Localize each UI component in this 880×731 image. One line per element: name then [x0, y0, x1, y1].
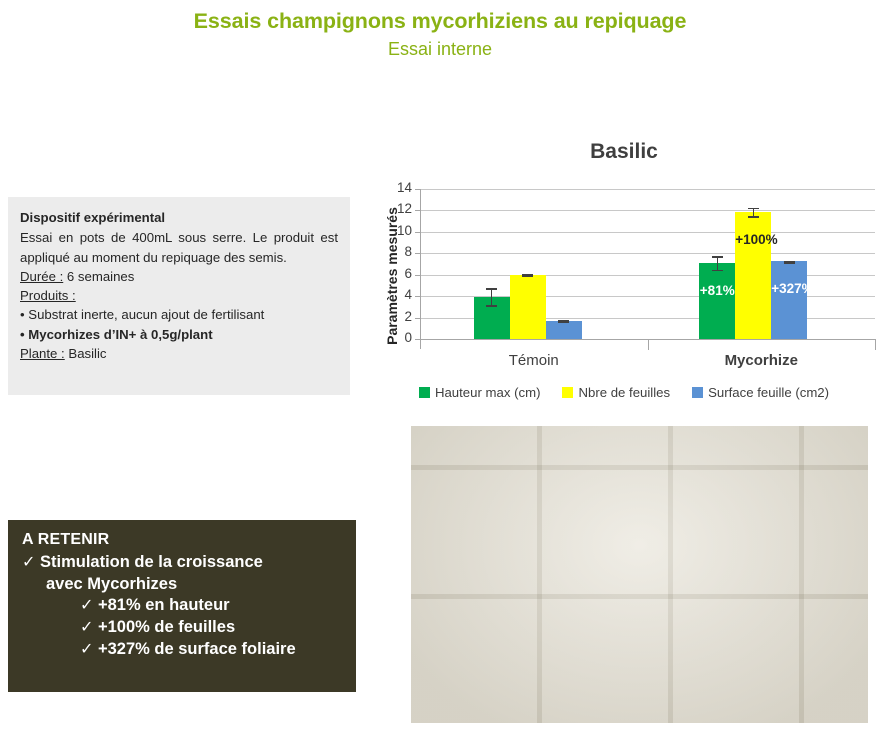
- chart-y-tick-label: 6: [378, 266, 412, 281]
- page-title: Essais champignons mycorhiziens au repiq…: [0, 8, 880, 35]
- chart-error-bar: [491, 288, 492, 305]
- retenir-bullet-2: ✓ +100% de feuilles: [22, 617, 342, 639]
- chart-legend: Hauteur max (cm)Nbre de feuillesSurface …: [372, 385, 876, 400]
- protocol-products-label: Produits :: [20, 288, 76, 303]
- chart-category-divider: [875, 339, 876, 350]
- chart-y-tick-label: 10: [378, 223, 412, 238]
- chart-gridline: [420, 232, 875, 233]
- retenir-line-1b: avec Mycorhizes: [22, 574, 342, 595]
- chart-bar-data-label: +327%: [771, 281, 807, 296]
- chart-gridline: [420, 189, 875, 190]
- chart-bar: [546, 321, 582, 339]
- chart-legend-label: Nbre de feuilles: [578, 385, 670, 400]
- chart-x-category-label: Témoin: [420, 352, 648, 369]
- chart-legend-item: Surface feuille (cm2): [692, 385, 829, 400]
- photo-tile-floor: [411, 426, 868, 723]
- protocol-plant-label: Plante :: [20, 346, 65, 361]
- key-takeaway-box: A RETENIR ✓ Stimulation de la croissance…: [8, 520, 356, 692]
- check-icon: ✓: [80, 619, 93, 636]
- check-icon: ✓: [22, 554, 35, 571]
- protocol-duration-value: 6 semaines: [67, 269, 134, 284]
- bar-chart: Basilic Paramètres mesurés 02468101214Té…: [372, 140, 876, 415]
- protocol-product-2: • Mycorhizes d’IN+ à 0,5g/plant: [20, 325, 338, 344]
- chart-legend-item: Hauteur max (cm): [419, 385, 541, 400]
- retenir-bullet-3-text: +327% de surface foliaire: [98, 640, 296, 658]
- chart-bar: [699, 263, 735, 339]
- chart-legend-label: Hauteur max (cm): [435, 385, 541, 400]
- retenir-bullet-1: ✓ +81% en hauteur: [22, 595, 342, 617]
- chart-legend-label: Surface feuille (cm2): [708, 385, 829, 400]
- chart-bar: [771, 261, 807, 339]
- chart-error-bar: [717, 256, 718, 270]
- chart-plot-area: 02468101214Témoin+81%+100%+327%Mycorhize: [420, 189, 875, 339]
- chart-legend-swatch: [692, 387, 703, 398]
- slide-root: Essais champignons mycorhiziens au repiq…: [0, 0, 880, 731]
- chart-bar: [510, 275, 546, 339]
- chart-bar-data-label: +81%: [699, 283, 735, 298]
- retenir-bullet-2-text: +100% de feuilles: [98, 618, 235, 636]
- chart-error-cap: [712, 256, 723, 258]
- retenir-heading: A RETENIR: [22, 530, 342, 551]
- chart-y-tick-label: 12: [378, 201, 412, 216]
- protocol-product-1: • Substrat inerte, aucun ajout de fertil…: [20, 305, 338, 324]
- chart-y-tick-label: 2: [378, 309, 412, 324]
- chart-y-axis: [420, 189, 421, 349]
- chart-category-divider: [648, 339, 649, 350]
- chart-y-tick-label: 0: [378, 330, 412, 345]
- protocol-heading: Dispositif expérimental: [20, 208, 338, 227]
- retenir-line-1: ✓ Stimulation de la croissance: [22, 552, 342, 574]
- protocol-duration: Durée : 6 semaines: [20, 267, 338, 286]
- retenir-bullet-1-text: +81% en hauteur: [98, 596, 230, 614]
- chart-x-category-label: Mycorhize: [648, 352, 876, 369]
- chart-gridline: [420, 253, 875, 254]
- header: Essais champignons mycorhiziens au repiq…: [0, 8, 880, 61]
- experimental-protocol-box: Dispositif expérimental Essai en pots de…: [8, 197, 350, 395]
- chart-title: Basilic: [372, 140, 876, 164]
- chart-y-tick-label: 4: [378, 287, 412, 302]
- retenir-line-1-text: Stimulation de la croissance: [40, 553, 263, 571]
- chart-legend-swatch: [562, 387, 573, 398]
- chart-error-cap: [784, 262, 795, 264]
- protocol-plant: Plante : Basilic: [20, 344, 338, 363]
- retenir-bullet-3: ✓ +327% de surface foliaire: [22, 639, 342, 661]
- chart-error-cap: [486, 288, 497, 290]
- protocol-products: Produits :: [20, 286, 338, 305]
- page-subtitle: Essai interne: [0, 37, 880, 61]
- chart-error-cap: [522, 275, 533, 277]
- check-icon: ✓: [80, 597, 93, 614]
- chart-y-tick-label: 14: [378, 180, 412, 195]
- check-icon: ✓: [80, 641, 93, 658]
- chart-error-cap: [748, 208, 759, 210]
- protocol-duration-label: Durée :: [20, 269, 63, 284]
- chart-error-cap: [712, 270, 723, 272]
- chart-error-cap: [748, 216, 759, 218]
- chart-gridline: [420, 210, 875, 211]
- trial-photo: [411, 426, 868, 723]
- chart-y-tick-label: 8: [378, 244, 412, 259]
- protocol-description: Essai en pots de 400mL sous serre. Le pr…: [20, 228, 338, 267]
- protocol-plant-value: Basilic: [68, 346, 106, 361]
- chart-bar-data-label: +100%: [735, 232, 771, 247]
- chart-error-cap: [486, 305, 497, 307]
- chart-legend-swatch: [419, 387, 430, 398]
- chart-legend-item: Nbre de feuilles: [562, 385, 670, 400]
- chart-error-cap: [558, 322, 569, 324]
